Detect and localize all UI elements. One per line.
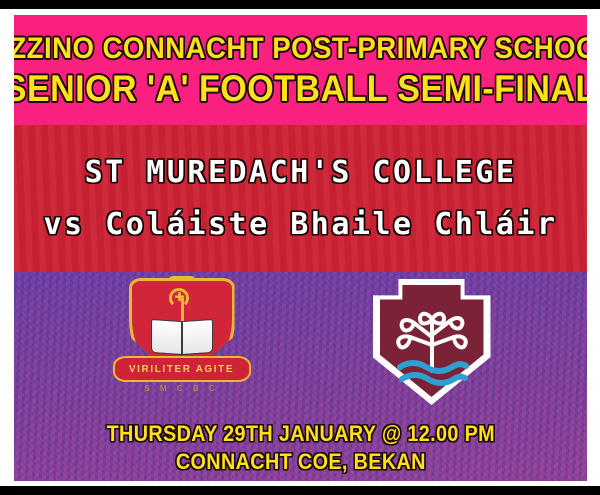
crest-motto-text: VIRILITER AGITE [129, 364, 234, 375]
tree-leaf-left-1 [401, 320, 413, 330]
tree-leaf-right-2 [454, 336, 466, 347]
tree-branch-right-2 [432, 337, 454, 345]
matchup-banner: ST MUREDACH'S COLLEGE vs Coláiste Bhaile… [14, 125, 587, 272]
crest-submotto-text: S M C B C [111, 384, 253, 393]
open-book-icon [151, 320, 213, 354]
headline-banner: MEZZINO CONNACHT POST-PRIMARY SCHOOLS SE… [14, 15, 587, 125]
team-home-name: ST MUREDACH'S COLLEGE [85, 156, 517, 190]
bottom-black-bar [0, 486, 600, 495]
tree-leaf-right-1 [450, 318, 462, 328]
st-muredachs-college-crest: ✚ VIRILITER AGITE S M C B C [111, 276, 253, 408]
top-black-bar [0, 0, 600, 9]
team-away-name: vs Coláiste Bhaile Chláir [43, 208, 557, 242]
book-page-right [182, 319, 213, 355]
book-page-left [151, 319, 182, 355]
crest-row: ✚ VIRILITER AGITE S M C B C [14, 272, 587, 412]
headline-line-2: SENIOR 'A' FOOTBALL SEMI-FINAL [14, 68, 587, 109]
tree-branch-left-2 [410, 337, 432, 345]
event-datetime: THURSDAY 29TH JANUARY @ 12.00 PM [106, 420, 494, 447]
event-venue: CONNACHT COE, BEKAN [176, 448, 426, 475]
water-wave-bottom [402, 375, 465, 383]
event-details: THURSDAY 29TH JANUARY @ 12.00 PM CONNACH… [14, 420, 587, 475]
headline-line-1: MEZZINO CONNACHT POST-PRIMARY SCHOOLS [14, 32, 587, 66]
match-poster: MEZZINO CONNACHT POST-PRIMARY SCHOOLS SE… [0, 0, 600, 495]
tree-leaf-left-2 [398, 336, 410, 347]
tree-leaf-top-right [432, 314, 444, 324]
tree-and-water-icon [380, 285, 484, 397]
motto-ribbon: VIRILITER AGITE [113, 356, 251, 382]
colaiste-bhaile-chlair-crest [373, 279, 491, 405]
poster-artboard: MEZZINO CONNACHT POST-PRIMARY SCHOOLS SE… [14, 15, 587, 481]
cross-icon: ✚ [175, 292, 185, 302]
